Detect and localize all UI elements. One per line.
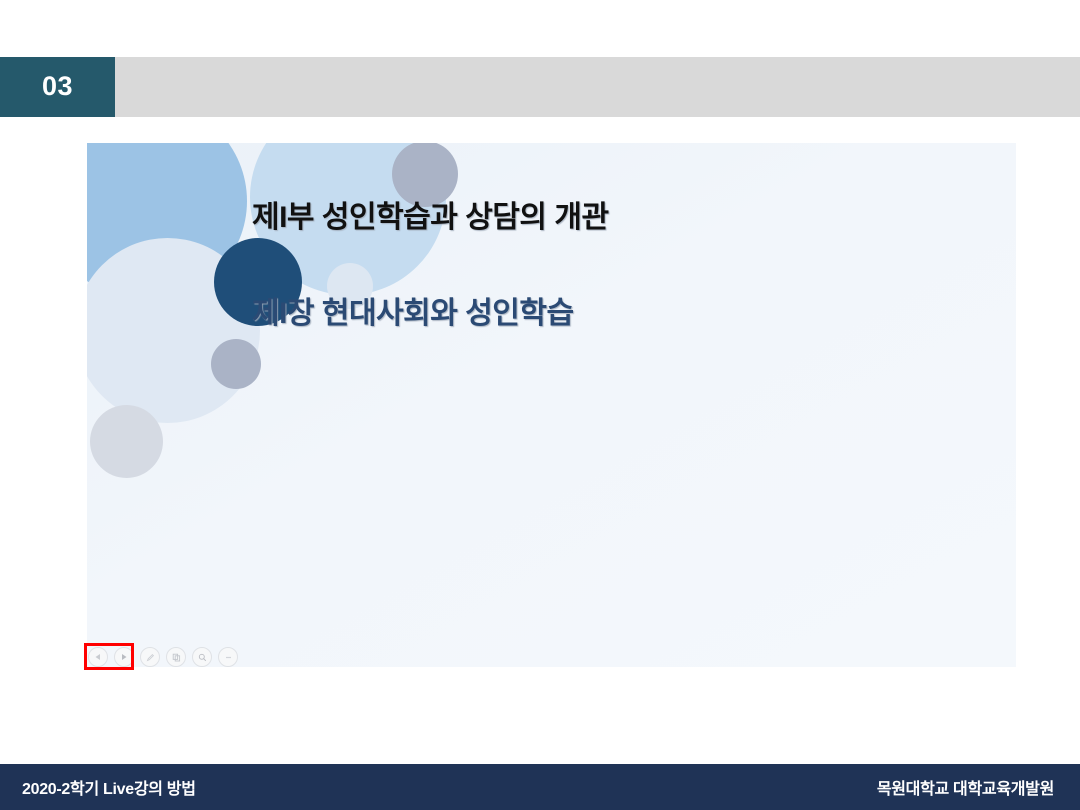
copy-icon [172, 653, 181, 662]
pen-icon [146, 653, 155, 662]
footer-bar: 2020-2학기 Live강의 방법 목원대학교 대학교육개발원 [0, 764, 1080, 810]
slide-title-chapter: 제I장 현대사회와 성인학습 [252, 288, 574, 332]
viewer-controls-toolbar[interactable] [88, 646, 238, 668]
triangle-left-icon [94, 653, 102, 661]
header-bar: 03 [0, 57, 1080, 117]
magnifier-icon [198, 653, 207, 662]
footer-course-title: 2020-2학기 Live강의 방법 [22, 775, 196, 799]
zoom-button[interactable] [192, 647, 212, 667]
circle-gray-midleft [211, 339, 261, 389]
next-page-button[interactable] [114, 647, 134, 667]
header-strip [115, 57, 1080, 117]
footer-organization: 목원대학교 대학교육개발원 [877, 775, 1054, 799]
slide-title-part: 제I부 성인학습과 상담의 개관 [252, 192, 609, 236]
minus-icon [224, 653, 233, 662]
pen-tool-button[interactable] [140, 647, 160, 667]
previous-page-button[interactable] [88, 647, 108, 667]
section-number-text: 03 [42, 73, 73, 102]
section-number-badge: 03 [0, 57, 115, 117]
triangle-right-icon [120, 653, 128, 661]
minimize-button[interactable] [218, 647, 238, 667]
copy-page-button[interactable] [166, 647, 186, 667]
circle-gray-lowleft [90, 405, 163, 478]
